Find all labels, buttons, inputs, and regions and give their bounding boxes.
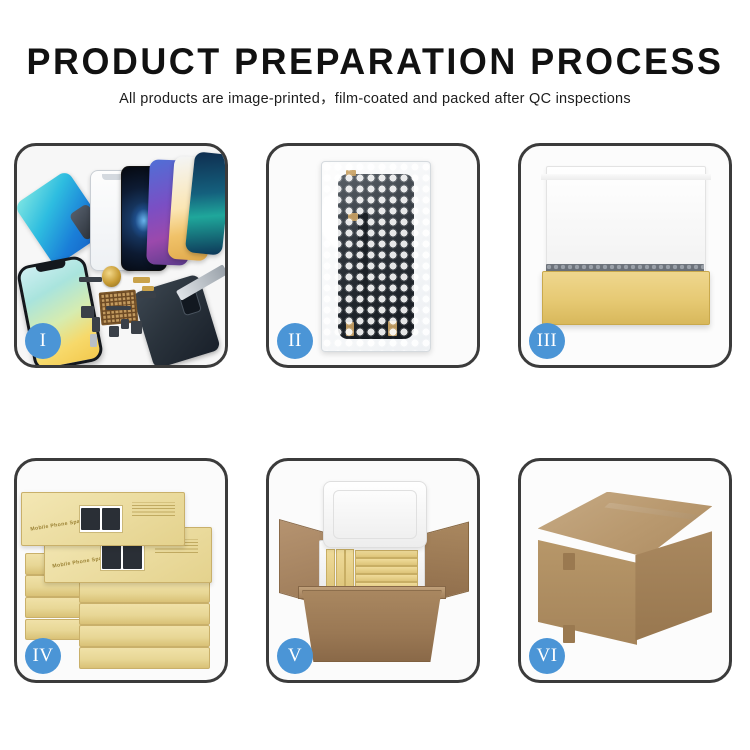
flex-cable-image [138, 293, 157, 298]
flex-cable-image [106, 306, 131, 310]
bubble-wrap-bag-image [321, 161, 431, 351]
styrofoam-lid-image [323, 481, 427, 549]
process-step-panel-1: I [14, 143, 228, 368]
process-step-panel-4: Mobile Phone Spare Parts Mobile Phone Sp… [14, 458, 228, 683]
box-spec-text-image [132, 502, 174, 516]
step-badge-2: II [277, 323, 313, 359]
process-step-panel-6: VI [518, 458, 732, 683]
product-preparation-infographic: PRODUCT PREPARATION PROCESS All products… [0, 0, 750, 750]
small-part-image [131, 321, 141, 334]
header: PRODUCT PREPARATION PROCESS All products… [0, 40, 750, 110]
stacked-box-image [79, 581, 210, 603]
page-title: PRODUCT PREPARATION PROCESS [11, 40, 739, 84]
box-window-image [100, 542, 145, 571]
stacked-box-image [79, 647, 210, 669]
stacked-box-image [79, 625, 210, 647]
small-part-image [79, 277, 102, 282]
bubble-texture-image [322, 162, 430, 350]
process-step-panel-5: V [266, 458, 480, 683]
carton-front-face-image [538, 540, 638, 645]
printed-box-rear-image: Mobile Phone Spare Parts [21, 492, 185, 547]
kraft-box-tray-image [542, 271, 710, 326]
step-badge-5: V [277, 638, 313, 674]
page-subtitle: All products are image-printed，film-coat… [0, 88, 750, 110]
step-badge-1: I [25, 323, 61, 359]
small-part-image [142, 286, 154, 291]
step-badge-6: VI [529, 638, 565, 674]
step-badge-3: III [529, 323, 565, 359]
carton-body-image [302, 590, 441, 662]
process-step-panel-3: III [518, 143, 732, 368]
small-part-image [109, 326, 119, 337]
small-part-image [121, 319, 129, 329]
carton-tab-image [563, 553, 575, 571]
carton-tab-image [563, 625, 575, 643]
small-part-image [133, 277, 150, 282]
speaker-coil-part-image [102, 266, 121, 287]
stacked-box-image [79, 603, 210, 625]
small-part-image [92, 317, 100, 332]
process-step-grid: I II [14, 143, 736, 683]
small-part-image [90, 334, 97, 347]
box-window-image [79, 505, 123, 532]
process-step-panel-2: II [266, 143, 480, 368]
step-badge-4: IV [25, 638, 61, 674]
